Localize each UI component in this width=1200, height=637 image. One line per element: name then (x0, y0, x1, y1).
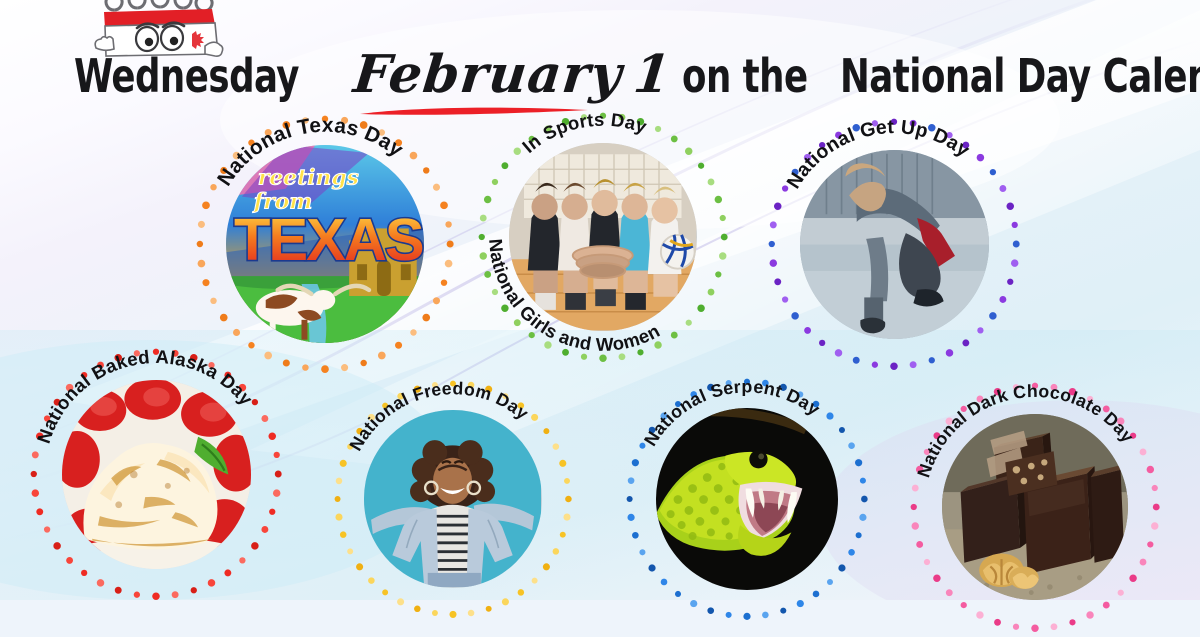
title-brand: National Day Calendar (840, 49, 1200, 103)
badge-photo: reetings from TEXAS (226, 145, 425, 344)
badge-national-serpent-day[interactable]: National Serpent Day (626, 378, 868, 620)
svg-text:TEXAS: TEXAS (234, 206, 423, 273)
badge-photo (656, 408, 839, 591)
badge-national-baked-alaska-day[interactable]: National Baked Alaska Day (30, 348, 282, 600)
title-month: February (350, 44, 624, 105)
badge-national-girls-and-women-in-sports-day[interactable]: In Sports Day National Girls and Women (478, 112, 728, 362)
badge-national-get-up-day[interactable]: National Get Up Day (768, 118, 1020, 370)
red-swoosh-underline (358, 106, 590, 117)
page-title: Wednesday February 1 on the National Day… (74, 44, 1200, 105)
svg-text:reetings: reetings (257, 164, 358, 190)
title-connector: on the (682, 49, 808, 103)
badge-national-dark-chocolate-day[interactable]: National Dark Chocolate Day (910, 382, 1160, 632)
badge-photo (364, 410, 541, 587)
title-month-wrap: February (354, 44, 622, 105)
badge-photo (800, 150, 989, 339)
badge-photo (942, 414, 1128, 600)
title-weekday: Wednesday (74, 49, 299, 103)
header: Wednesday February 1 on the National Day… (0, 0, 1200, 118)
badge-photo (509, 143, 697, 331)
badge-photo (62, 380, 251, 569)
badge-national-freedom-day[interactable]: National Freedom Day (334, 380, 572, 618)
title-day: 1 (630, 44, 673, 105)
badge-national-texas-day[interactable]: reetings from TEXAS National Texas Day (196, 115, 454, 373)
